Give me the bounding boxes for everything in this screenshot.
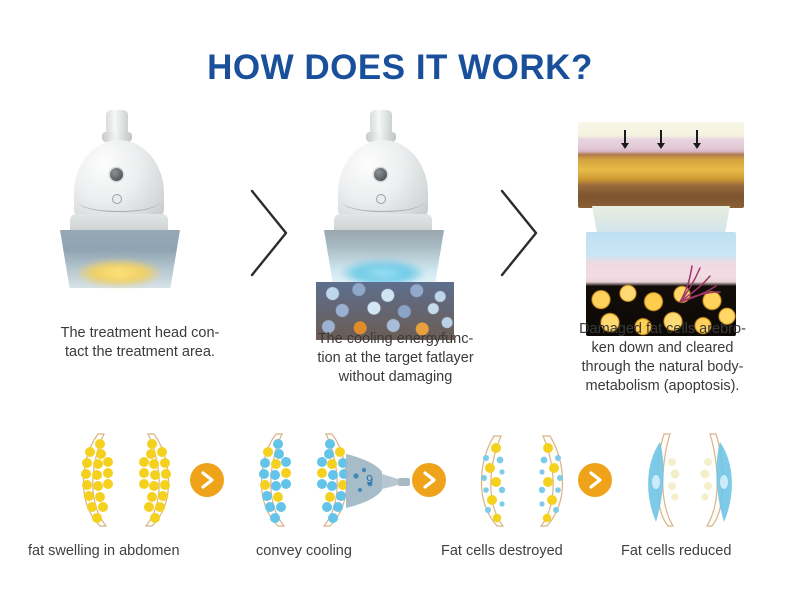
timeline-arrow-3[interactable] xyxy=(578,463,612,497)
device-ring-icon xyxy=(376,194,386,204)
step-caption-1-line2: tact the treatment area. xyxy=(30,343,250,362)
step-caption-1-line1: The treatment head con- xyxy=(30,324,250,343)
step-caption-3-line3: through the natural body- xyxy=(540,358,785,377)
step-caption-2-line2: tion at the target fatlayer xyxy=(288,349,503,368)
step-caption-2-line1: The cooling energyfunc- xyxy=(288,330,503,349)
chevron-right-icon xyxy=(246,185,292,281)
device-ring-icon xyxy=(112,194,122,204)
step-caption-2: The cooling energyfunc- tion at the targ… xyxy=(288,330,503,387)
timeline-label-3: Fat cells destroyed xyxy=(441,543,563,559)
step-caption-3-line2: ken down and cleared xyxy=(540,339,785,358)
skin-cross-section-illustration xyxy=(578,122,744,336)
slim-abdomen-right xyxy=(698,432,760,528)
step-panel-2 xyxy=(312,110,502,340)
step-caption-3: Damaged fat cells arebro- ken down and c… xyxy=(540,320,785,397)
cooling-arrow-icon-1 xyxy=(624,130,626,145)
timeline-arrow-1[interactable] xyxy=(190,463,224,497)
cooling-arrow-icon-3 xyxy=(696,130,698,145)
abdomen-cooling-left xyxy=(234,432,296,528)
step-caption-1: The treatment head con- tact the treatme… xyxy=(30,324,250,362)
step-caption-3-line4: metabolism (apoptosis). xyxy=(540,377,785,396)
chevron-right-icon xyxy=(496,185,542,281)
timeline-label-1: fat swelling in abdomen xyxy=(28,543,180,559)
abdomen-yellow-cells-right xyxy=(134,432,196,528)
timeline-label-4: Fat cells reduced xyxy=(621,543,731,559)
chevron-right-icon xyxy=(421,471,437,489)
infographic-root: HOW DOES IT WORK? The treatment head con… xyxy=(0,0,800,600)
step-caption-2-line3: without damaging xyxy=(288,368,503,387)
timeline-stage-4 xyxy=(620,432,780,532)
chevron-separator-2 xyxy=(496,185,542,281)
step-panel-1 xyxy=(48,110,238,340)
step-caption-3-line1: Damaged fat cells arebro- xyxy=(540,320,785,339)
step-panel-3 xyxy=(578,122,748,322)
applicator-device-illustration-1 xyxy=(48,110,198,320)
slim-abdomen-left xyxy=(620,432,682,528)
chevron-separator-1 xyxy=(246,185,292,281)
chevron-right-icon xyxy=(199,471,215,489)
device-button-icon xyxy=(110,168,123,181)
chevron-right-icon xyxy=(587,471,603,489)
timeline-stage-2: 9 xyxy=(234,432,414,532)
applicator-device-illustration-2 xyxy=(312,110,462,320)
svg-text:9: 9 xyxy=(366,472,373,487)
abdomen-destroyed-cells-left xyxy=(452,432,514,528)
page-title: HOW DOES IT WORK? xyxy=(0,48,800,88)
abdomen-yellow-cells-left xyxy=(56,432,118,528)
blood-vessel-icon xyxy=(674,262,726,306)
timeline-arrow-2[interactable] xyxy=(412,463,446,497)
device-button-icon xyxy=(374,168,387,181)
abdomen-cooling-right-with-applicator: 9 xyxy=(312,432,412,528)
cooling-arrow-icon-2 xyxy=(660,130,662,145)
timeline-label-2: convey cooling xyxy=(256,543,352,559)
